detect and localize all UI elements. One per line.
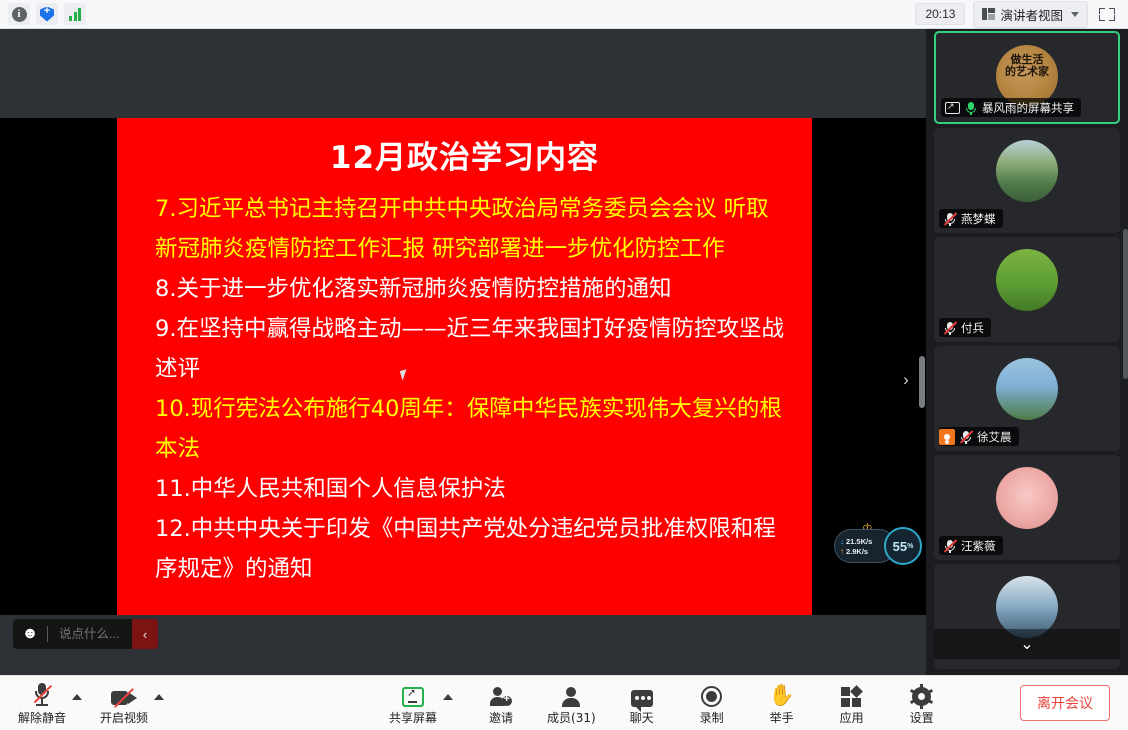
mic-muted-icon — [34, 683, 50, 707]
participant-tile-3[interactable]: 徐艾晨 — [934, 346, 1120, 451]
participant-name-bar: 付兵 — [939, 318, 991, 337]
slide-item-10-text: 现行宪法公布施行40周年：保障中华民族实现伟大复兴的根本法 — [155, 396, 782, 462]
slide-item-11-text: 中华人民共和国个人信息保护法 — [191, 476, 506, 502]
participants-button[interactable]: 成员(31) — [543, 681, 600, 726]
record-label: 录制 — [700, 709, 724, 726]
cpu-usage-ring: 55% — [884, 527, 922, 565]
slide-item-8-text: 关于进一步优化落实新冠肺炎疫情防控措施的通知 — [176, 276, 671, 302]
view-mode-dropdown[interactable]: 演讲者视图 — [973, 1, 1088, 28]
participant-name-bar: 汪紫薇 — [939, 536, 1003, 555]
audio-options-caret-icon[interactable] — [72, 694, 82, 700]
participant-name: 暴风雨的屏幕共享 — [982, 100, 1074, 116]
share-screen-icon — [402, 687, 424, 707]
meeting-timer: 20:13 — [915, 3, 965, 25]
share-control-group: 共享屏幕 — [385, 681, 459, 726]
participant-tile-0[interactable]: 做生活的艺术家 暴风雨的屏幕共享 — [934, 31, 1120, 124]
video-control-group: 开启视频 — [96, 681, 170, 726]
signal-bars-icon[interactable] — [64, 3, 86, 25]
slide-item-9-text: 在坚持中赢得战略主动——近三年来我国打好疫情防控攻坚战述评 — [155, 316, 784, 382]
info-icon[interactable]: i — [8, 3, 30, 25]
upload-speed-value: 2.9K/s — [846, 547, 868, 556]
avatar-text: 做生活的艺术家 — [996, 54, 1058, 78]
participant-name-bar: 徐艾晨 — [939, 427, 1019, 446]
settings-label: 设置 — [910, 709, 934, 726]
participant-name: 燕梦蝶 — [961, 211, 996, 227]
download-arrow-icon: ↓ — [840, 537, 844, 546]
slide-item-7-text: 习近平总书记主持召开中共中央政治局常务委员会会议 听取新冠肺炎疫情防控工作汇报 … — [155, 196, 769, 262]
share-options-caret-icon[interactable] — [443, 694, 453, 700]
apps-button[interactable]: 应用 — [824, 681, 880, 726]
comment-input[interactable] — [48, 627, 132, 641]
apps-icon — [841, 687, 862, 707]
participant-name-bar: 燕梦蝶 — [939, 209, 1003, 228]
unmute-button[interactable]: 解除静音 — [14, 681, 70, 726]
mic-muted-icon — [943, 321, 957, 335]
top-bar-left-icons: i — [0, 3, 86, 25]
participant-strip-scrollbar[interactable] — [1123, 229, 1128, 379]
percent-sign: % — [907, 543, 913, 550]
start-video-label: 开启视频 — [100, 709, 148, 726]
raise-hand-label: 举手 — [770, 709, 794, 726]
comment-bar: ☻ ‹ — [13, 619, 158, 649]
network-speed-widget[interactable]: ♔ ↓ 21.5K/s ↑ 2.9K/s 55% — [834, 521, 922, 563]
view-mode-label: 演讲者视图 — [1000, 5, 1063, 24]
camera-off-icon — [111, 689, 137, 707]
slide-item-8: 8.关于进一步优化落实新冠肺炎疫情防控措施的通知 — [155, 269, 790, 309]
slide-item-10-number: 10. — [155, 396, 191, 422]
chat-icon — [631, 690, 653, 707]
slide-title: 12月政治学习内容 — [139, 132, 790, 177]
avatar — [996, 358, 1058, 420]
upload-arrow-icon: ↑ — [840, 547, 844, 556]
share-screen-button[interactable]: 共享屏幕 — [385, 681, 441, 726]
record-icon — [701, 686, 722, 707]
chat-button[interactable]: 聊天 — [614, 681, 670, 726]
leave-meeting-button[interactable]: 离开会议 — [1020, 685, 1110, 721]
meeting-toolbar: 解除静音 开启视频 共享屏幕 邀请 — [0, 675, 1128, 730]
participants-icon — [561, 687, 581, 707]
stage-scrollbar[interactable] — [919, 356, 925, 408]
avatar — [996, 467, 1058, 529]
screen-share-viewport[interactable]: 12月政治学习内容 7.习近平总书记主持召开中共中央政治局常务委员会会议 听取新… — [0, 118, 926, 615]
fullscreen-icon[interactable] — [1096, 4, 1118, 24]
slide-item-12: 12.中共中央关于印发《中国共产党处分违纪党员批准权限和程序规定》的通知 — [155, 509, 790, 589]
top-bar-right-controls: 20:13 演讲者视图 — [915, 1, 1128, 28]
avatar — [996, 140, 1058, 202]
invite-button[interactable]: 邀请 — [473, 681, 529, 726]
meeting-window: i 20:13 演讲者视图 12月政治学习内容 7.习近平总书记主持召 — [0, 0, 1128, 730]
top-bar: i 20:13 演讲者视图 — [0, 0, 1128, 29]
participant-tile-2[interactable]: 付兵 — [934, 237, 1120, 342]
settings-button[interactable]: 设置 — [894, 681, 950, 726]
slide-item-7: 7.习近平总书记主持召开中共中央政治局常务委员会会议 听取新冠肺炎疫情防控工作汇… — [155, 189, 790, 269]
expand-panel-chevron-icon[interactable]: › — [898, 367, 914, 393]
host-badge-icon — [939, 429, 955, 445]
participant-name: 汪紫薇 — [961, 538, 996, 554]
invite-icon — [490, 687, 512, 707]
mic-muted-icon — [943, 539, 957, 553]
slide-item-9-number: 9. — [155, 316, 176, 342]
slide-item-11-number: 11. — [155, 476, 191, 502]
slide-item-9: 9.在坚持中赢得战略主动——近三年来我国打好疫情防控攻坚战述评 — [155, 309, 790, 389]
mic-muted-icon — [943, 212, 957, 226]
participant-tile-4[interactable]: 汪紫薇 — [934, 455, 1120, 560]
apps-label: 应用 — [840, 709, 864, 726]
gear-icon — [911, 686, 932, 707]
mic-muted-icon — [959, 430, 973, 444]
mic-on-icon — [964, 101, 978, 115]
audio-control-group: 解除静音 — [14, 681, 88, 726]
chat-label: 聊天 — [630, 709, 654, 726]
avatar — [996, 249, 1058, 311]
record-button[interactable]: 录制 — [684, 681, 740, 726]
invite-label: 邀请 — [489, 709, 513, 726]
share-screen-label: 共享屏幕 — [389, 709, 437, 726]
participants-label: 成员(31) — [547, 709, 596, 726]
hand-icon: ✋ — [769, 685, 795, 707]
slide-item-11: 11.中华人民共和国个人信息保护法 — [155, 469, 790, 509]
presentation-slide: 12月政治学习内容 7.习近平总书记主持召开中共中央政治局常务委员会会议 听取新… — [117, 118, 812, 615]
slide-item-12-text: 中共中央关于印发《中国共产党处分违纪党员批准权限和程序规定》的通知 — [155, 516, 776, 582]
slide-item-12-number: 12. — [155, 516, 191, 542]
slide-item-10: 10.现行宪法公布施行40周年：保障中华民族实现伟大复兴的根本法 — [155, 389, 790, 469]
comment-collapse-chevron-icon[interactable]: ‹ — [132, 619, 158, 649]
speaker-view-icon — [982, 8, 995, 20]
participant-name-bar: 暴风雨的屏幕共享 — [941, 98, 1081, 117]
participant-tile-5[interactable]: ⌄ — [934, 564, 1120, 669]
raise-hand-button[interactable]: ✋ 举手 — [754, 681, 810, 726]
scroll-down-chevron-icon[interactable]: ⌄ — [934, 629, 1120, 659]
shield-icon[interactable] — [36, 3, 58, 25]
start-video-button[interactable]: 开启视频 — [96, 681, 152, 726]
participant-name: 付兵 — [961, 320, 984, 336]
participant-name: 徐艾晨 — [977, 429, 1012, 445]
participant-strip[interactable]: 做生活的艺术家 暴风雨的屏幕共享 燕梦蝶 — [926, 29, 1128, 675]
download-speed-value: 21.5K/s — [846, 537, 872, 546]
slide-item-7-number: 7. — [155, 196, 176, 222]
cpu-usage-value: 55 — [893, 539, 907, 554]
participant-tile-1[interactable]: 燕梦蝶 — [934, 128, 1120, 233]
unmute-label: 解除静音 — [18, 709, 66, 726]
shared-screen-stage: 12月政治学习内容 7.习近平总书记主持召开中共中央政治局常务委员会会议 听取新… — [0, 29, 926, 675]
chevron-down-icon — [1071, 12, 1079, 17]
video-options-caret-icon[interactable] — [154, 694, 164, 700]
screen-share-icon — [945, 102, 960, 114]
slide-item-8-number: 8. — [155, 276, 176, 302]
emoji-icon[interactable]: ☻ — [13, 625, 47, 643]
